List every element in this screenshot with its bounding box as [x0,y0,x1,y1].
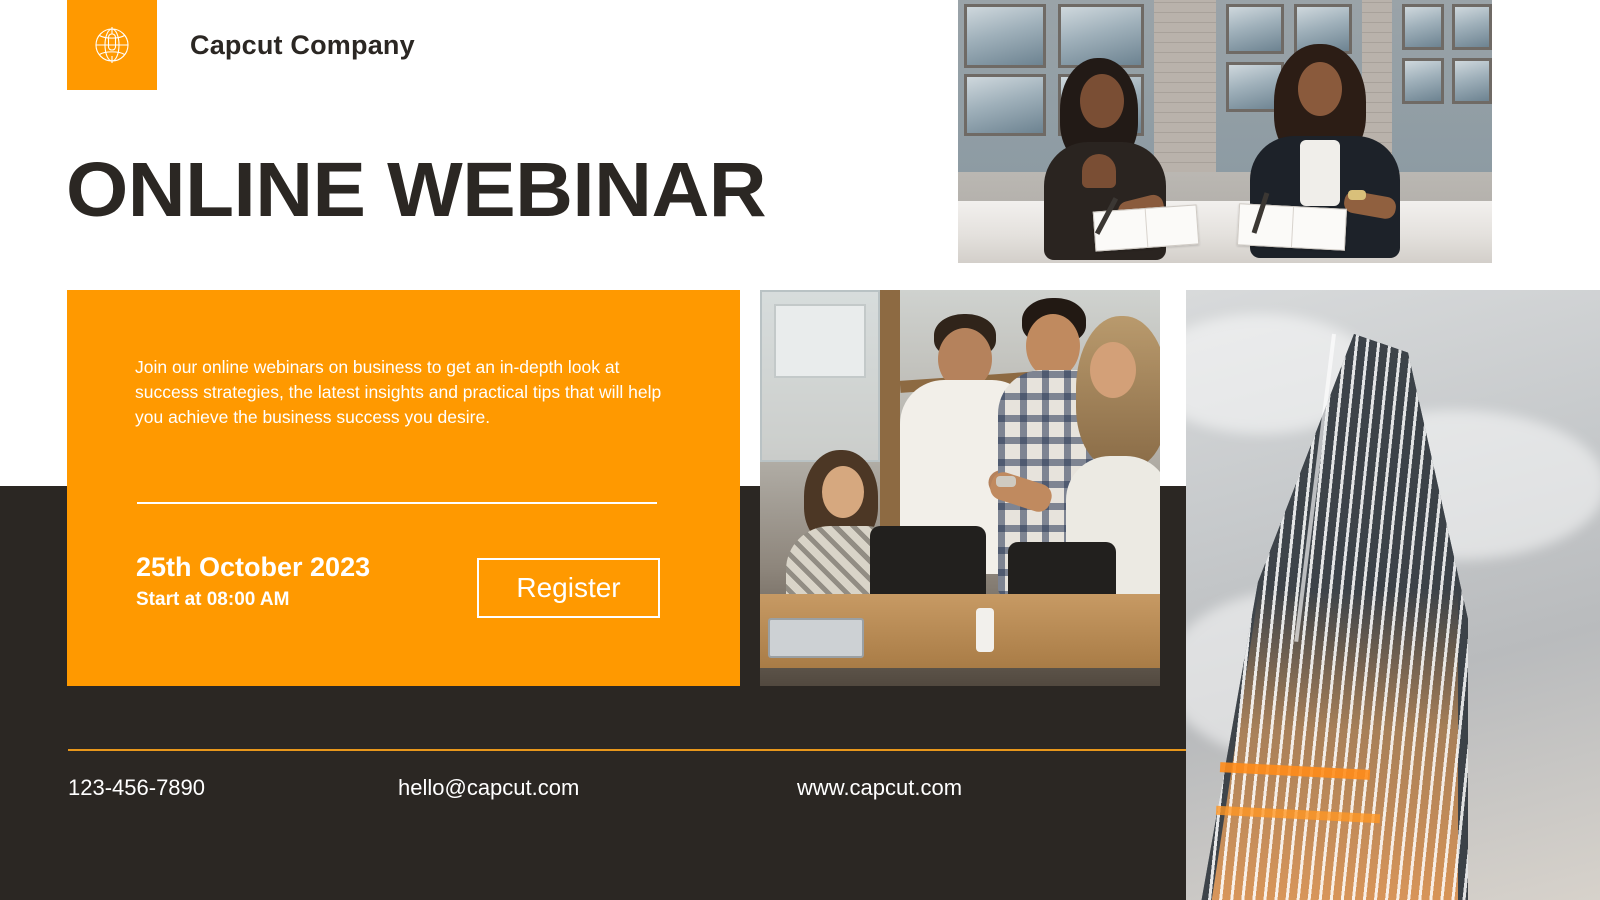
contact-email[interactable]: hello@capcut.com [398,775,579,801]
tower-photo [1186,290,1600,900]
window-pane [1452,58,1492,104]
footer-divider [68,749,1186,751]
whiteboard [774,304,866,378]
webinar-poster: Capcut Company ONLINE WEBINAR Join our o… [0,0,1600,900]
globe-icon [89,22,135,68]
team-photo [760,290,1160,686]
window-pane [964,74,1046,136]
event-time: Start at 08:00 AM [136,589,370,611]
laptop [768,618,864,658]
window-pane [1452,4,1492,50]
footer-contact-row: 123-456-7890 hello@capcut.com www.capcut… [68,775,1186,815]
window-pane [1402,4,1444,50]
logo-tile [67,0,157,90]
panel-divider [137,502,657,504]
page-title: ONLINE WEBINAR [66,152,766,229]
panel-description: Join our online webinars on business to … [135,355,680,430]
bottle [976,608,994,652]
event-schedule: 25th October 2023 Start at 08:00 AM [136,552,370,611]
company-name: Capcut Company [190,30,415,61]
contact-website[interactable]: www.capcut.com [797,775,962,801]
meeting-photo [958,0,1492,263]
contact-phone[interactable]: 123-456-7890 [68,775,205,801]
window-pane [1402,58,1444,104]
brand-header: Capcut Company [67,0,415,90]
event-date: 25th October 2023 [136,552,370,584]
window-pane [964,4,1046,68]
register-button[interactable]: Register [477,558,660,618]
info-panel: Join our online webinars on business to … [67,290,740,686]
